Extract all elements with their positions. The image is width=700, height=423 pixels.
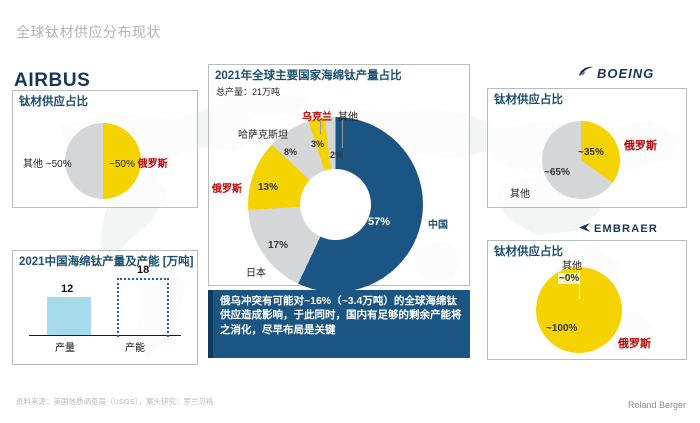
roland-berger-brand: Roland Berger <box>628 400 686 410</box>
boeing-other-pct: ~65% <box>544 167 570 178</box>
embraer-russia-pct: ~100% <box>546 323 577 334</box>
embraer-russia-label: 俄罗斯 <box>618 335 651 351</box>
callout-box: 俄乌冲突有可能对~16%（~3.4万吨）的全球海绵钛供应造成影响，于此同时，国内… <box>208 290 470 358</box>
donut-panel-title: 2021年全球主要国家海绵钛产量占比 <box>215 69 469 83</box>
donut-subtitle: 总产量：21万吨 <box>216 85 469 98</box>
airbus-panel: 钛材供应占比 其他 ~50% ~50% 俄罗斯 <box>12 90 198 208</box>
boeing-wordmark: BOEING <box>597 66 654 81</box>
embraer-panel-title: 钛材供应占比 <box>494 245 686 259</box>
leader-line-ukraine <box>320 120 321 134</box>
donut-chart: 57% 17% 13% 8% 3% 2% 中国 日本 俄罗斯 哈萨克斯坦 乌克兰… <box>228 112 448 297</box>
bar-capacity-value: 18 <box>137 264 149 276</box>
donut-japan-pct: 17% <box>268 240 288 251</box>
donut-japan-label: 日本 <box>246 264 266 279</box>
donut-ukraine-pct: 3% <box>311 139 324 149</box>
airbus-logo: AIRBUS <box>14 70 90 92</box>
boeing-panel-title: 钛材供应占比 <box>494 93 686 107</box>
donut-russia-label: 俄罗斯 <box>212 180 242 195</box>
boeing-panel: 钛材供应占比 ~35% 俄罗斯 ~65% 其他 <box>487 88 687 208</box>
boeing-swoosh-icon <box>578 66 594 81</box>
donut-kazakhstan-pct: 8% <box>284 147 297 157</box>
bar-output-value: 12 <box>61 283 73 295</box>
embraer-other-label: 其他 <box>562 257 582 272</box>
donut-kazakhstan-label: 哈萨克斯坦 <box>238 126 288 141</box>
leader-line-other <box>342 120 343 148</box>
donut-hole <box>300 169 371 240</box>
bar-capacity-category: 产能 <box>125 339 145 354</box>
embraer-wordmark: EMBRAER <box>594 223 658 235</box>
china-bar-panel: 2021中国海绵钛产量及产能 [万吨] 12 产量 18 产能 <box>12 250 198 365</box>
bar-output-volume <box>47 297 91 335</box>
boeing-russia-pct: ~35% <box>578 147 604 158</box>
embraer-panel: 钛材供应占比 其他 ~0% ~100% 俄罗斯 <box>487 240 687 360</box>
boeing-pie-chart <box>542 121 620 199</box>
bar-capacity <box>117 278 169 337</box>
china-bar-panel-title: 2021中国海绵钛产量及产能 [万吨] <box>19 255 197 269</box>
boeing-russia-label: 俄罗斯 <box>624 137 657 153</box>
airbus-other-label: 其他 ~50% <box>23 155 72 170</box>
donut-china-pct: 57% <box>368 216 390 228</box>
donut-russia-pct: 13% <box>258 182 278 193</box>
donut-china-label: 中国 <box>428 216 448 231</box>
airbus-russia-label: ~50% 俄罗斯 <box>109 155 168 170</box>
embraer-arrow-icon <box>577 222 591 236</box>
embraer-logo: EMBRAER <box>577 222 658 236</box>
embraer-other-pct: ~0% <box>558 273 580 284</box>
donut-other-pct: 2% <box>330 150 343 160</box>
boeing-other-label: 其他 <box>510 185 530 200</box>
airbus-panel-title: 钛材供应占比 <box>19 95 197 109</box>
source-note: 资料来源：美国地质调查局（USGS），案头研究：罗兰贝格 <box>16 396 214 407</box>
donut-other-label: 其他 <box>338 108 358 123</box>
page-title: 全球钛材供应分布现状 <box>16 22 161 42</box>
boeing-logo: BOEING <box>578 66 654 81</box>
donut-ukraine-label: 乌克兰 <box>302 108 332 123</box>
bar-output-category: 产量 <box>55 339 75 354</box>
